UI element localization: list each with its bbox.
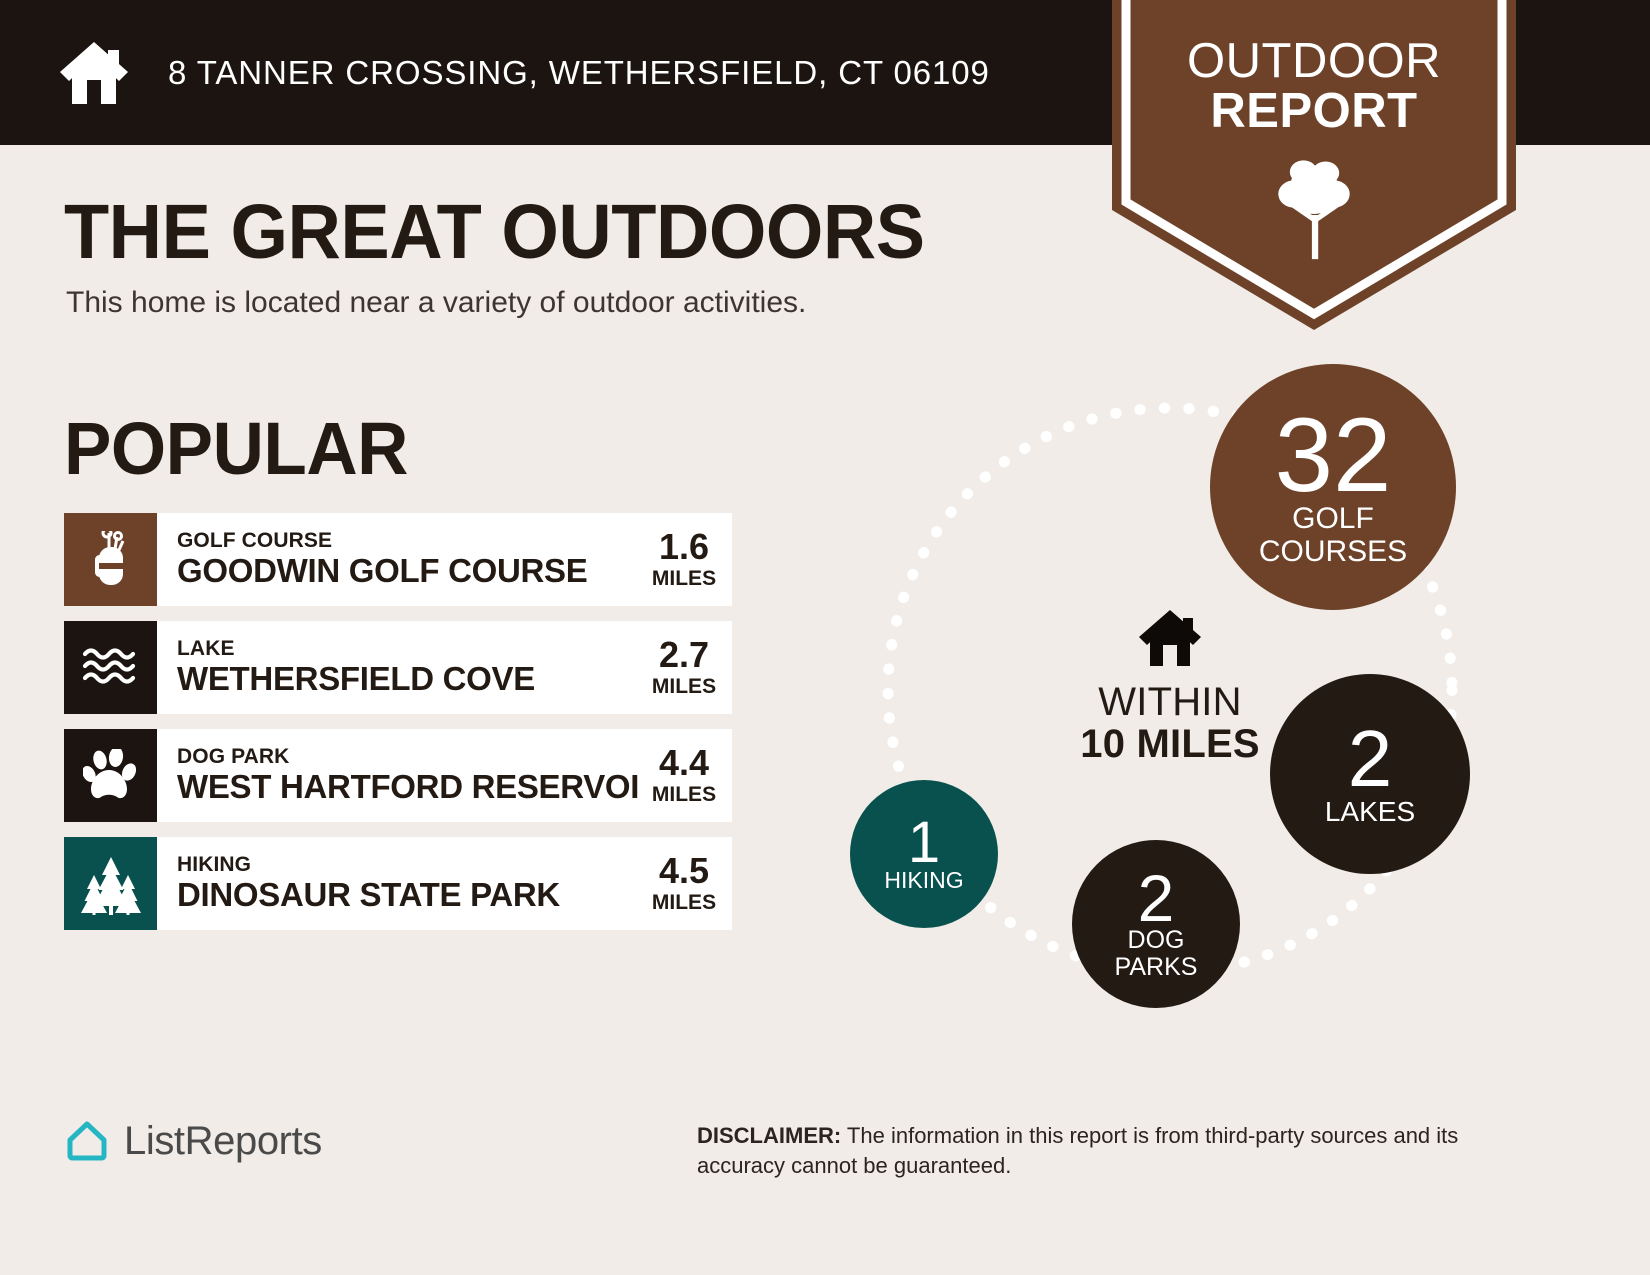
bubble-label-line2: COURSES [1259, 536, 1407, 568]
page-subtitle: This home is located near a variety of o… [66, 286, 806, 320]
list-item-category: LAKE [177, 637, 640, 661]
pine-trees-icon [64, 837, 157, 930]
bubble-label: DOG PARKS [1115, 927, 1198, 981]
popular-list: GOLF COURSE GOODWIN GOLF COURSE 1.6 MILE… [64, 513, 732, 945]
list-item-text: LAKE WETHERSFIELD COVE [157, 621, 640, 714]
center-label-line1: WITHIN [1030, 681, 1310, 723]
golf-bag-icon [64, 513, 157, 606]
list-item-name: WETHERSFIELD COVE [177, 661, 640, 698]
bubble-count: 1 [908, 815, 940, 870]
list-item-name: WEST HARTFORD RESERVOIR [177, 769, 640, 806]
distance-unit: MILES [652, 566, 716, 591]
list-item-category: HIKING [177, 853, 640, 877]
diagram-center: WITHIN 10 MILES [1030, 607, 1310, 766]
list-item-text: GOLF COURSE GOODWIN GOLF COURSE [157, 513, 640, 606]
listreports-logo[interactable]: ListReports [64, 1118, 322, 1164]
bubble-label: GOLF COURSES [1259, 503, 1407, 568]
bubble-label: HIKING [884, 868, 963, 893]
distance-value: 2.7 [659, 636, 709, 674]
outdoor-report-badge: OUTDOOR REPORT [1112, 0, 1516, 330]
bubble-label: LAKES [1325, 797, 1415, 827]
distance-value: 1.6 [659, 528, 709, 566]
bubble-count: 32 [1275, 406, 1392, 506]
list-item-distance: 4.5 MILES [640, 837, 732, 930]
bubble-label-line1: DOG [1115, 927, 1198, 954]
list-item-name: GOODWIN GOLF COURSE [177, 553, 640, 590]
list-item[interactable]: LAKE WETHERSFIELD COVE 2.7 MILES [64, 621, 732, 714]
list-item-text: HIKING DINOSAUR STATE PARK [157, 837, 640, 930]
list-item-distance: 1.6 MILES [640, 513, 732, 606]
bubble-hiking[interactable]: 1 HIKING [850, 780, 998, 928]
list-item-name: DINOSAUR STATE PARK [177, 877, 640, 914]
badge-shield-shape [1112, 0, 1516, 330]
list-item-distance: 2.7 MILES [640, 621, 732, 714]
bubble-count: 2 [1348, 721, 1393, 797]
section-title-popular: POPULAR [64, 406, 408, 491]
list-item-category: GOLF COURSE [177, 529, 640, 553]
bubble-count: 2 [1138, 867, 1175, 930]
list-item-text: DOG PARK WEST HARTFORD RESERVOIR [157, 729, 640, 822]
center-label-line2: 10 MILES [1030, 723, 1310, 765]
distance-unit: MILES [652, 674, 716, 699]
page-title: THE GREAT OUTDOORS [64, 188, 925, 277]
list-item[interactable]: GOLF COURSE GOODWIN GOLF COURSE 1.6 MILE… [64, 513, 732, 606]
listreports-house-icon [64, 1118, 110, 1164]
disclaimer: DISCLAIMER: The information in this repo… [697, 1121, 1507, 1180]
distance-unit: MILES [652, 890, 716, 915]
distance-value: 4.4 [659, 744, 709, 782]
home-icon [1137, 607, 1203, 669]
bubble-label-line2: PARKS [1115, 954, 1198, 981]
distance-unit: MILES [652, 782, 716, 807]
list-item[interactable]: HIKING DINOSAUR STATE PARK 4.5 MILES [64, 837, 732, 930]
list-item-distance: 4.4 MILES [640, 729, 732, 822]
paw-print-icon [64, 729, 157, 822]
bubble-golf-courses[interactable]: 32 GOLF COURSES [1210, 364, 1456, 610]
bubble-label-line1: GOLF [1259, 503, 1407, 535]
list-item-category: DOG PARK [177, 745, 640, 769]
outdoor-report-page: 8 TANNER CROSSING, WETHERSFIELD, CT 0610… [0, 0, 1650, 1275]
waves-icon [64, 621, 157, 714]
disclaimer-label: DISCLAIMER: [697, 1123, 841, 1148]
listreports-wordmark: ListReports [124, 1119, 322, 1164]
within-10-miles-diagram: WITHIN 10 MILES 32 GOLF COURSES 2 LAKES … [820, 352, 1520, 1052]
distance-value: 4.5 [659, 852, 709, 890]
bubble-dog-parks[interactable]: 2 DOG PARKS [1072, 840, 1240, 1008]
property-address: 8 TANNER CROSSING, WETHERSFIELD, CT 0610… [168, 54, 990, 92]
bubble-lakes[interactable]: 2 LAKES [1270, 674, 1470, 874]
home-icon [58, 38, 130, 108]
list-item[interactable]: DOG PARK WEST HARTFORD RESERVOIR 4.4 MIL… [64, 729, 732, 822]
